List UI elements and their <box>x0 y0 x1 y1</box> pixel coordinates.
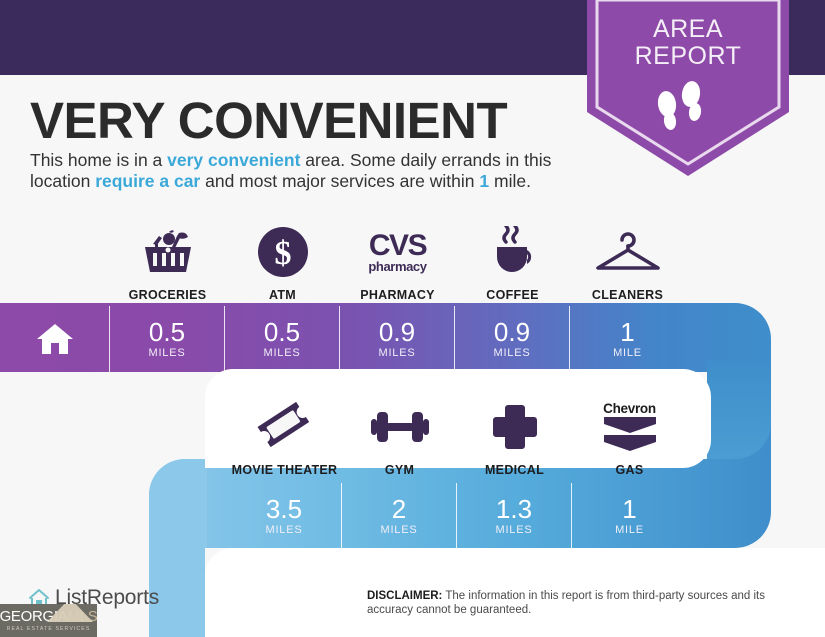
distance-unit: MILES <box>493 347 530 359</box>
row1-icons: GROCERIES $ ATM CVS pharmacy PHARMACY <box>110 222 685 302</box>
distance-cell-gas: 1 MILE <box>572 483 687 549</box>
icon-label: GYM <box>385 463 414 477</box>
distance-cell-movie-theater: 3.5 MILES <box>227 483 342 549</box>
movie-ticket-icon <box>256 399 314 455</box>
badge-line-1: AREA <box>587 16 789 43</box>
distance-cell-groceries: 0.5 MILES <box>110 306 225 372</box>
badge-line-2: REPORT <box>587 43 789 70</box>
icon-cell-groceries: GROCERIES <box>110 222 225 302</box>
row1-distances: 0.5 MILES 0.5 MILES 0.9 MILES 0.9 MILES … <box>0 306 685 372</box>
icon-label: MOVIE THEATER <box>232 463 338 477</box>
icon-cell-gym: GYM <box>342 395 457 477</box>
distance-cell-medical: 1.3 MILES <box>457 483 572 549</box>
icon-label: PHARMACY <box>360 288 435 302</box>
area-report-page: 1817 GODDARD ST SE, ATLANTA, GA 30315 AR… <box>0 0 825 637</box>
distance-value: 0.5 <box>264 319 300 346</box>
home-icon <box>36 322 74 356</box>
icon-cell-medical: MEDICAL <box>457 395 572 477</box>
row2-icons: MOVIE THEATER GYM <box>227 395 687 477</box>
icon-label: CLEANERS <box>592 288 663 302</box>
georgia-mls-logo: GEORGIAMLS REAL ESTATE SERVICES <box>0 604 97 637</box>
distance-unit: MILE <box>613 347 642 359</box>
chevron-gas-icon: Chevron <box>602 399 658 455</box>
distance-unit: MILES <box>148 347 185 359</box>
icon-cell-movie-theater: MOVIE THEATER <box>227 395 342 477</box>
grocery-basket-icon <box>139 224 197 280</box>
mls-tagline: REAL ESTATE SERVICES <box>7 626 91 632</box>
icon-cell-pharmacy: CVS pharmacy PHARMACY <box>340 222 455 302</box>
distance-cell-atm: 0.5 MILES <box>225 306 340 372</box>
icon-cell-cleaners: CLEANERS <box>570 222 685 302</box>
cvs-pharmacy-icon: CVS pharmacy <box>368 224 426 280</box>
distance-unit: MILE <box>615 524 644 536</box>
distance-unit: MILES <box>380 524 417 536</box>
distance-value: 3.5 <box>266 496 302 523</box>
svg-text:$: $ <box>274 235 291 272</box>
icon-cell-gas: Chevron GAS <box>572 395 687 477</box>
distance-value: 0.9 <box>379 319 415 346</box>
distance-unit: MILES <box>265 524 302 536</box>
cvs-sub-wordmark: pharmacy <box>368 260 426 273</box>
medical-cross-icon <box>490 399 540 455</box>
disclaimer-label: DISCLAIMER: <box>367 590 442 602</box>
icon-cell-coffee: COFFEE <box>455 222 570 302</box>
distance-cell-coffee: 0.9 MILES <box>455 306 570 372</box>
distance-cell-pharmacy: 0.9 MILES <box>340 306 455 372</box>
distance-value: 2 <box>392 496 406 523</box>
clothes-hanger-icon <box>592 224 664 280</box>
dumbbell-icon <box>368 399 432 455</box>
distance-cell-cleaners: 1 MILE <box>570 306 685 372</box>
icon-label: MEDICAL <box>485 463 544 477</box>
badge-text: AREA REPORT <box>587 16 789 70</box>
distance-unit: MILES <box>495 524 532 536</box>
icon-label: GROCERIES <box>129 288 207 302</box>
row2-distances: 3.5 MILES 2 MILES 1.3 MILES 1 MILE <box>227 483 687 549</box>
icon-cell-atm: $ ATM <box>225 222 340 302</box>
origin-home-cell <box>0 306 110 372</box>
chevron-wordmark: Chevron <box>603 402 656 416</box>
icon-label: COFFEE <box>486 288 539 302</box>
distance-value: 0.9 <box>494 319 530 346</box>
coffee-cup-icon <box>485 224 541 280</box>
icon-label: GAS <box>616 463 644 477</box>
area-report-badge: AREA REPORT <box>587 0 789 176</box>
distance-value: 1 <box>622 496 636 523</box>
icon-label: ATM <box>269 288 296 302</box>
distance-unit: MILES <box>263 347 300 359</box>
disclaimer: DISCLAIMER: The information in this repo… <box>367 589 787 617</box>
distance-unit: MILES <box>378 347 415 359</box>
cvs-wordmark: CVS <box>369 231 426 261</box>
dollar-circle-icon: $ <box>256 224 310 280</box>
distance-value: 0.5 <box>149 319 185 346</box>
distance-value: 1 <box>620 319 634 346</box>
distance-value: 1.3 <box>496 496 532 523</box>
distance-cell-gym: 2 MILES <box>342 483 457 549</box>
mls-swoosh-icon <box>47 604 93 622</box>
